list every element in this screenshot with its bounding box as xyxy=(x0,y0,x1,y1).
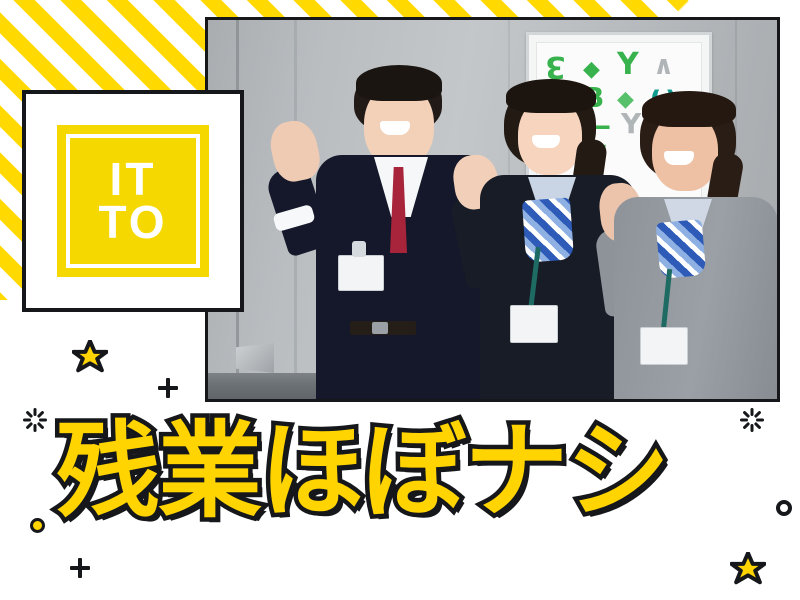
itto-logo-square: IT TO xyxy=(57,125,209,277)
headline-text: 残業ほぼナシ xyxy=(56,419,668,523)
person-woman-right xyxy=(586,79,777,399)
banner-canvas: 3 ◆ Y ∧ M B ◆ ω ◆ — Y M < ナビ個別指 xyxy=(0,0,800,600)
itto-logo-line-2: TO xyxy=(98,201,167,244)
itto-logo-card: IT TO xyxy=(22,90,244,312)
id-badge xyxy=(510,305,558,343)
itto-logo-line-1: IT xyxy=(98,158,167,201)
plus-icon xyxy=(70,558,90,578)
star-6-icon xyxy=(730,552,766,588)
headline-block: 残業ほぼナシ xyxy=(56,412,756,530)
plus-icon xyxy=(158,378,178,398)
neck-scarf xyxy=(656,219,707,279)
neck-scarf xyxy=(522,197,574,262)
sparkle-icon xyxy=(737,405,767,435)
dot-filled-icon xyxy=(30,518,45,533)
star-6-icon xyxy=(72,340,108,376)
id-badge xyxy=(640,327,688,365)
staff-photo: 3 ◆ Y ∧ M B ◆ ω ◆ — Y M < ナビ個別指 xyxy=(205,17,780,402)
badge-clip xyxy=(352,241,366,257)
sparkle-icon xyxy=(20,405,50,435)
dot-hollow-icon xyxy=(776,500,792,516)
itto-logo-text: IT TO xyxy=(98,158,167,244)
id-badge xyxy=(338,255,384,291)
staff-photo-content: 3 ◆ Y ∧ M B ◆ ω ◆ — Y M < ナビ個別指 xyxy=(208,20,777,399)
